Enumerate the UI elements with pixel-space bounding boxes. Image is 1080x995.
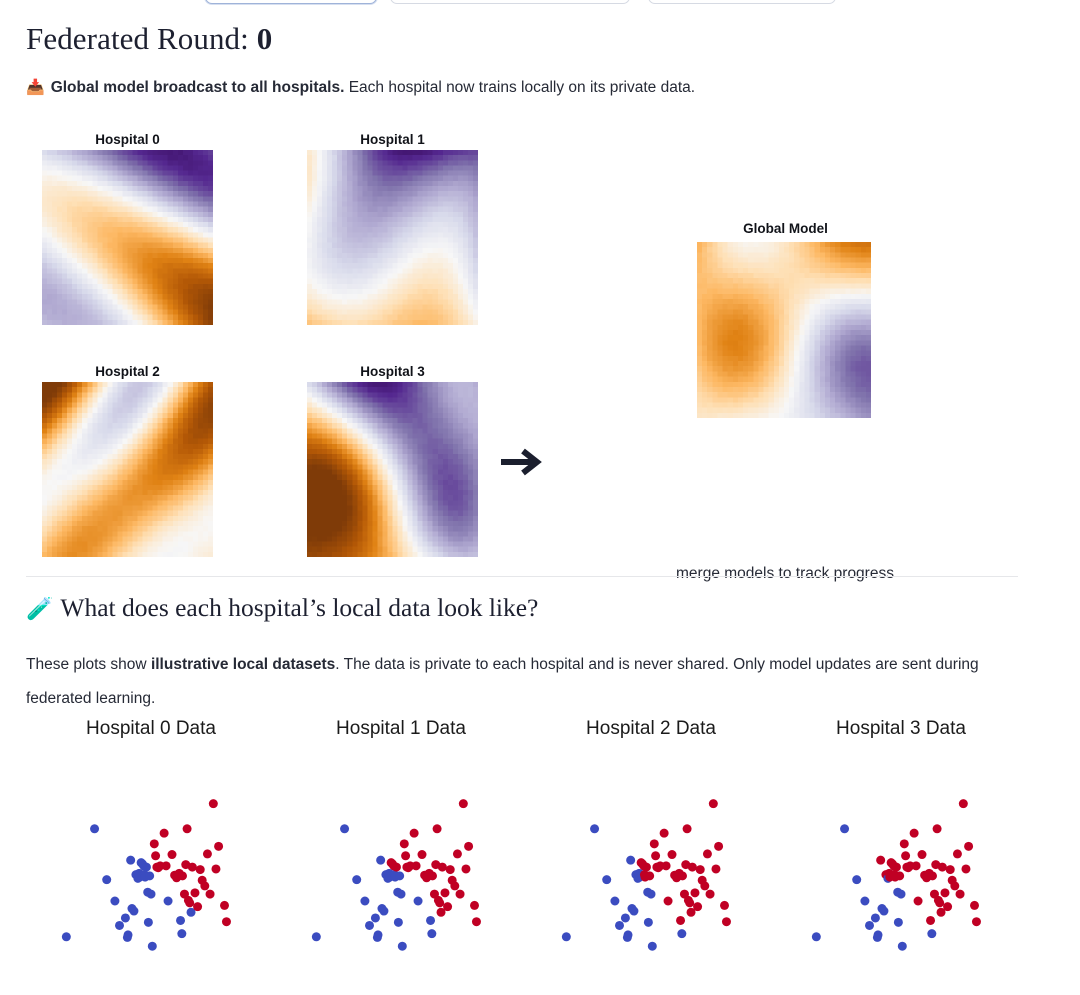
scatter-point xyxy=(450,881,459,890)
scatter-point xyxy=(148,942,157,951)
scatter-point xyxy=(470,901,479,910)
scatter-point xyxy=(940,888,949,897)
scatter-point xyxy=(676,916,685,925)
scatter-plot-3 xyxy=(776,750,1026,995)
scatter-point xyxy=(703,849,712,858)
client-model-title-0: Hospital 0 xyxy=(12,132,243,147)
scatter-point xyxy=(392,863,401,872)
scatter-point xyxy=(918,850,927,859)
scatter-point xyxy=(126,856,135,865)
scatter-point xyxy=(664,897,673,906)
global-model-heatmap xyxy=(697,242,871,418)
scatter-point xyxy=(840,824,849,833)
scatter-point xyxy=(812,932,821,941)
local-datasets-figure: Hospital 0 DataHospital 1 DataHospital 2… xyxy=(0,718,1080,995)
scatter-plot-0 xyxy=(26,750,276,995)
scatter-point xyxy=(685,898,694,907)
scatter-panel-3: Hospital 3 Data xyxy=(776,718,1026,995)
merge-caption: merge models to track progress xyxy=(600,565,970,583)
scatter-point xyxy=(879,907,888,916)
scatter-point xyxy=(690,888,699,897)
page-title-prefix: Federated Round: xyxy=(26,21,249,56)
scatter-point xyxy=(453,849,462,858)
scatter-point xyxy=(440,888,449,897)
scatter-point xyxy=(610,897,619,906)
scatter-point xyxy=(644,918,653,927)
right-arrow-icon xyxy=(497,440,549,484)
scatter-point xyxy=(459,799,468,808)
scatter-point xyxy=(683,824,692,833)
scatter-point xyxy=(433,824,442,833)
scatter-point xyxy=(461,864,470,873)
scatter-point xyxy=(711,864,720,873)
section-divider xyxy=(26,576,1018,577)
local-data-heading-text: What does each hospital’s local data loo… xyxy=(60,593,538,622)
scatter-plot-1 xyxy=(276,750,526,995)
scatter-point xyxy=(196,865,205,874)
scatter-point xyxy=(688,863,697,872)
scatter-point xyxy=(964,842,973,851)
scatter-point xyxy=(142,863,151,872)
scatter-point xyxy=(874,930,883,939)
scatter-point xyxy=(668,850,677,859)
scatter-point xyxy=(677,929,686,938)
scatter-point xyxy=(222,917,231,926)
scatter-point xyxy=(645,871,654,880)
scatter-panel-1: Hospital 1 Data xyxy=(276,718,526,995)
scatter-point xyxy=(200,881,209,890)
scatter-point xyxy=(852,875,861,884)
page-title-round: 0 xyxy=(257,21,273,56)
scatter-point xyxy=(662,861,671,870)
scatter-point xyxy=(360,897,369,906)
scatter-plot-2 xyxy=(526,750,776,995)
scatter-point xyxy=(943,902,952,911)
scatter-panel-title-2: Hospital 2 Data xyxy=(526,718,776,740)
scatter-point xyxy=(401,851,410,860)
round-slider-widget[interactable] xyxy=(205,0,377,4)
broadcast-status-bold: Global model broadcast to all hospitals. xyxy=(51,79,345,96)
scatter-point xyxy=(426,916,435,925)
scatter-point xyxy=(438,863,447,872)
scatter-point xyxy=(946,865,955,874)
scatter-point xyxy=(110,897,119,906)
client-model-title-3: Hospital 3 xyxy=(277,364,508,379)
scatter-point xyxy=(147,890,156,899)
scatter-point xyxy=(418,850,427,859)
scatter-point xyxy=(188,863,197,872)
scatter-point xyxy=(624,930,633,939)
scatter-point xyxy=(629,907,638,916)
scatter-point xyxy=(714,842,723,851)
scatter-point xyxy=(414,897,423,906)
client-model-title-2: Hospital 2 xyxy=(12,364,243,379)
scatter-point xyxy=(456,890,465,899)
scatter-point xyxy=(365,921,374,930)
scatter-point xyxy=(895,871,904,880)
scatter-point xyxy=(972,917,981,926)
scatter-point xyxy=(190,888,199,897)
scatter-point xyxy=(650,839,659,848)
page-title: Federated Round: 0 xyxy=(26,21,272,57)
scatter-point xyxy=(562,932,571,941)
scatter-point xyxy=(615,921,624,930)
scatter-point xyxy=(443,902,452,911)
scatter-point xyxy=(970,901,979,910)
scatter-point xyxy=(178,871,187,880)
model-weights-figure: Hospital 0Hospital 1Hospital 2Hospital 3… xyxy=(0,118,1080,568)
scatter-point xyxy=(927,929,936,938)
scatter-point xyxy=(446,865,455,874)
scatter-point xyxy=(102,875,111,884)
scatter-point xyxy=(626,856,635,865)
scatter-point xyxy=(374,930,383,939)
scatter-point xyxy=(933,824,942,833)
scatter-point xyxy=(164,897,173,906)
scatter-point xyxy=(706,890,715,899)
scatter-point xyxy=(938,863,947,872)
scatter-point xyxy=(709,799,718,808)
scatter-point xyxy=(371,913,380,922)
local-data-heading: 🧪What does each hospital’s local data lo… xyxy=(26,593,538,623)
scatter-panel-title-1: Hospital 1 Data xyxy=(276,718,526,740)
scatter-point xyxy=(379,907,388,916)
scatter-point xyxy=(177,929,186,938)
scatter-point xyxy=(428,871,437,880)
scatter-point xyxy=(892,863,901,872)
scatter-point xyxy=(435,898,444,907)
scatter-point xyxy=(959,799,968,808)
scatter-point xyxy=(648,942,657,951)
scatter-point xyxy=(412,861,421,870)
scatter-point xyxy=(928,871,937,880)
scatter-point xyxy=(400,839,409,848)
scatter-point xyxy=(961,864,970,873)
scatter-point xyxy=(472,917,481,926)
scatter-point xyxy=(660,829,669,838)
scatter-point xyxy=(953,849,962,858)
scatter-point xyxy=(651,851,660,860)
scatter-point xyxy=(90,824,99,833)
client-model-title-1: Hospital 1 xyxy=(277,132,508,147)
client-model-heatmap-0 xyxy=(42,150,213,325)
scatter-point xyxy=(722,917,731,926)
scatter-point xyxy=(209,799,218,808)
scatter-point xyxy=(206,890,215,899)
scatter-point xyxy=(696,865,705,874)
scatter-point xyxy=(144,918,153,927)
scatter-point xyxy=(876,856,885,865)
scatter-panel-2: Hospital 2 Data xyxy=(526,718,776,995)
scatter-panel-title-0: Hospital 0 Data xyxy=(26,718,276,740)
scatter-point xyxy=(590,824,599,833)
tertiary-widget[interactable] xyxy=(648,0,836,4)
scatter-point xyxy=(678,871,687,880)
scatter-point xyxy=(720,901,729,910)
scatter-point xyxy=(935,898,944,907)
scatter-point xyxy=(115,921,124,930)
paragraph-part-1: These plots show xyxy=(26,656,151,673)
scatter-point xyxy=(642,863,651,872)
scatter-point xyxy=(203,849,212,858)
scatter-point xyxy=(602,875,611,884)
scatter-point xyxy=(693,902,702,911)
scatter-point xyxy=(910,829,919,838)
scatter-point xyxy=(129,907,138,916)
scatter-point xyxy=(897,890,906,899)
scatter-point xyxy=(183,824,192,833)
client-model-heatmap-1 xyxy=(307,150,478,325)
scatter-point xyxy=(176,916,185,925)
scatter-point xyxy=(121,913,130,922)
scatter-point xyxy=(160,829,169,838)
client-model-heatmap-2 xyxy=(42,382,213,557)
scatter-panel-0: Hospital 0 Data xyxy=(26,718,276,995)
inbox-tray-icon: 📥 xyxy=(26,79,45,96)
scatter-point xyxy=(395,871,404,880)
scatter-point xyxy=(912,861,921,870)
scatter-point xyxy=(397,890,406,899)
scatter-point xyxy=(220,901,229,910)
scatter-point xyxy=(162,861,171,870)
scatter-point xyxy=(621,913,630,922)
scatter-point xyxy=(340,824,349,833)
scatter-point xyxy=(914,897,923,906)
secondary-widget[interactable] xyxy=(390,0,630,4)
scatter-panel-title-3: Hospital 3 Data xyxy=(776,718,1026,740)
scatter-point xyxy=(894,918,903,927)
scatter-point xyxy=(151,851,160,860)
paragraph-bold: illustrative local datasets xyxy=(151,656,335,673)
scatter-point xyxy=(860,897,869,906)
scatter-point xyxy=(700,881,709,890)
broadcast-status-rest: Each hospital now trains locally on its … xyxy=(344,79,695,96)
scatter-point xyxy=(352,875,361,884)
scatter-point xyxy=(145,871,154,880)
scatter-point xyxy=(398,942,407,951)
scatter-point xyxy=(150,839,159,848)
scatter-point xyxy=(185,898,194,907)
scatter-point xyxy=(214,842,223,851)
scatter-point xyxy=(900,839,909,848)
test-tube-icon: 🧪 xyxy=(26,596,53,621)
local-data-paragraph: These plots show illustrative local data… xyxy=(26,648,991,716)
scatter-point xyxy=(312,932,321,941)
scatter-point xyxy=(124,930,133,939)
scatter-point xyxy=(926,916,935,925)
scatter-point xyxy=(871,913,880,922)
scatter-point xyxy=(865,921,874,930)
scatter-point xyxy=(950,881,959,890)
broadcast-status: 📥Global model broadcast to all hospitals… xyxy=(26,77,1026,99)
scatter-point xyxy=(168,850,177,859)
scatter-point xyxy=(647,890,656,899)
federated-learning-notebook-page: Federated Round: 0 📥Global model broadca… xyxy=(0,0,1080,995)
scatter-point xyxy=(394,918,403,927)
scatter-point xyxy=(427,929,436,938)
scatter-point xyxy=(410,829,419,838)
scatter-point xyxy=(62,932,71,941)
scatter-point xyxy=(211,864,220,873)
scatter-point xyxy=(901,851,910,860)
global-model-title: Global Model xyxy=(670,221,901,236)
client-model-heatmap-3 xyxy=(307,382,478,557)
scatter-point xyxy=(464,842,473,851)
scatter-point xyxy=(898,942,907,951)
top-widget-strip xyxy=(0,0,1080,6)
scatter-point xyxy=(193,902,202,911)
scatter-point xyxy=(376,856,385,865)
scatter-point xyxy=(956,890,965,899)
